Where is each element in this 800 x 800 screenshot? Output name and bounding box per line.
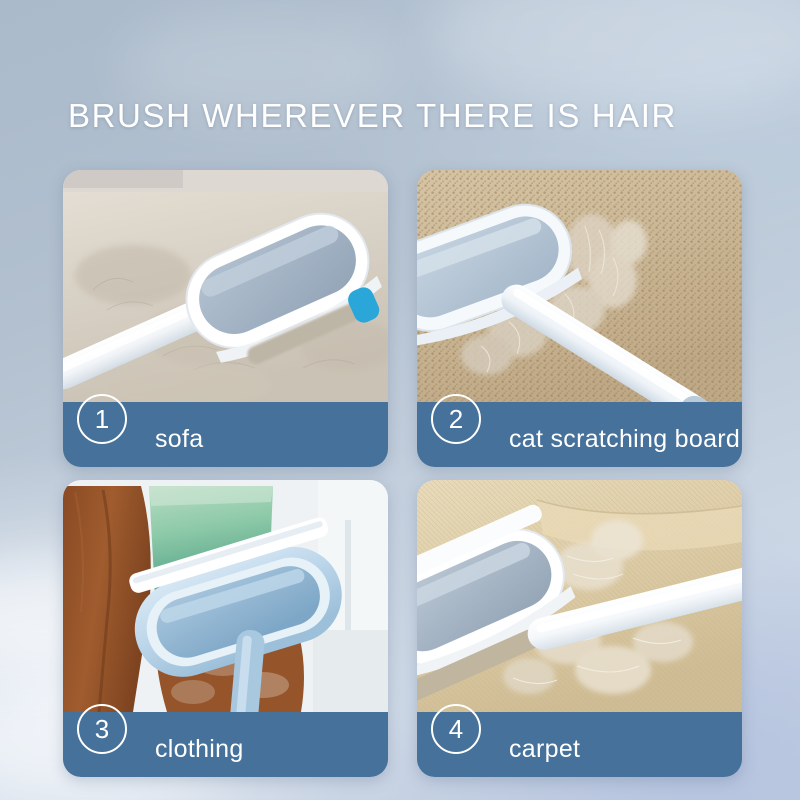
photo-clothing [63,480,388,712]
badge-number-2: 2 [431,394,481,444]
photo-sofa [63,170,388,402]
page-title: BRUSH WHEREVER THERE IS HAIR [68,97,677,135]
use-case-panel-cat-scratching-board[interactable]: 2 cat scratching board [417,170,742,467]
caption-label-clothing: clothing [155,735,244,764]
promo-image-canvas: BRUSH WHEREVER THERE IS HAIR [0,0,800,800]
badge-number-1: 1 [77,394,127,444]
badge-number-3-text: 3 [95,716,109,742]
use-case-panel-clothing[interactable]: 3 clothing [63,480,388,777]
badge-number-2-text: 2 [449,406,463,432]
badge-number-4: 4 [431,704,481,754]
use-case-panel-sofa[interactable]: 1 sofa [63,170,388,467]
caption-label-carpet: carpet [509,735,580,764]
badge-number-4-text: 4 [449,716,463,742]
background-cloud-top [430,0,800,110]
badge-number-3: 3 [77,704,127,754]
photo-carpet [417,480,742,712]
badge-number-1-text: 1 [95,406,109,432]
caption-label-sofa: sofa [155,425,203,454]
photo-cat-scratching-board [417,170,742,402]
caption-label-cat-scratching-board: cat scratching board [509,425,740,454]
use-case-panel-carpet[interactable]: 4 carpet [417,480,742,777]
